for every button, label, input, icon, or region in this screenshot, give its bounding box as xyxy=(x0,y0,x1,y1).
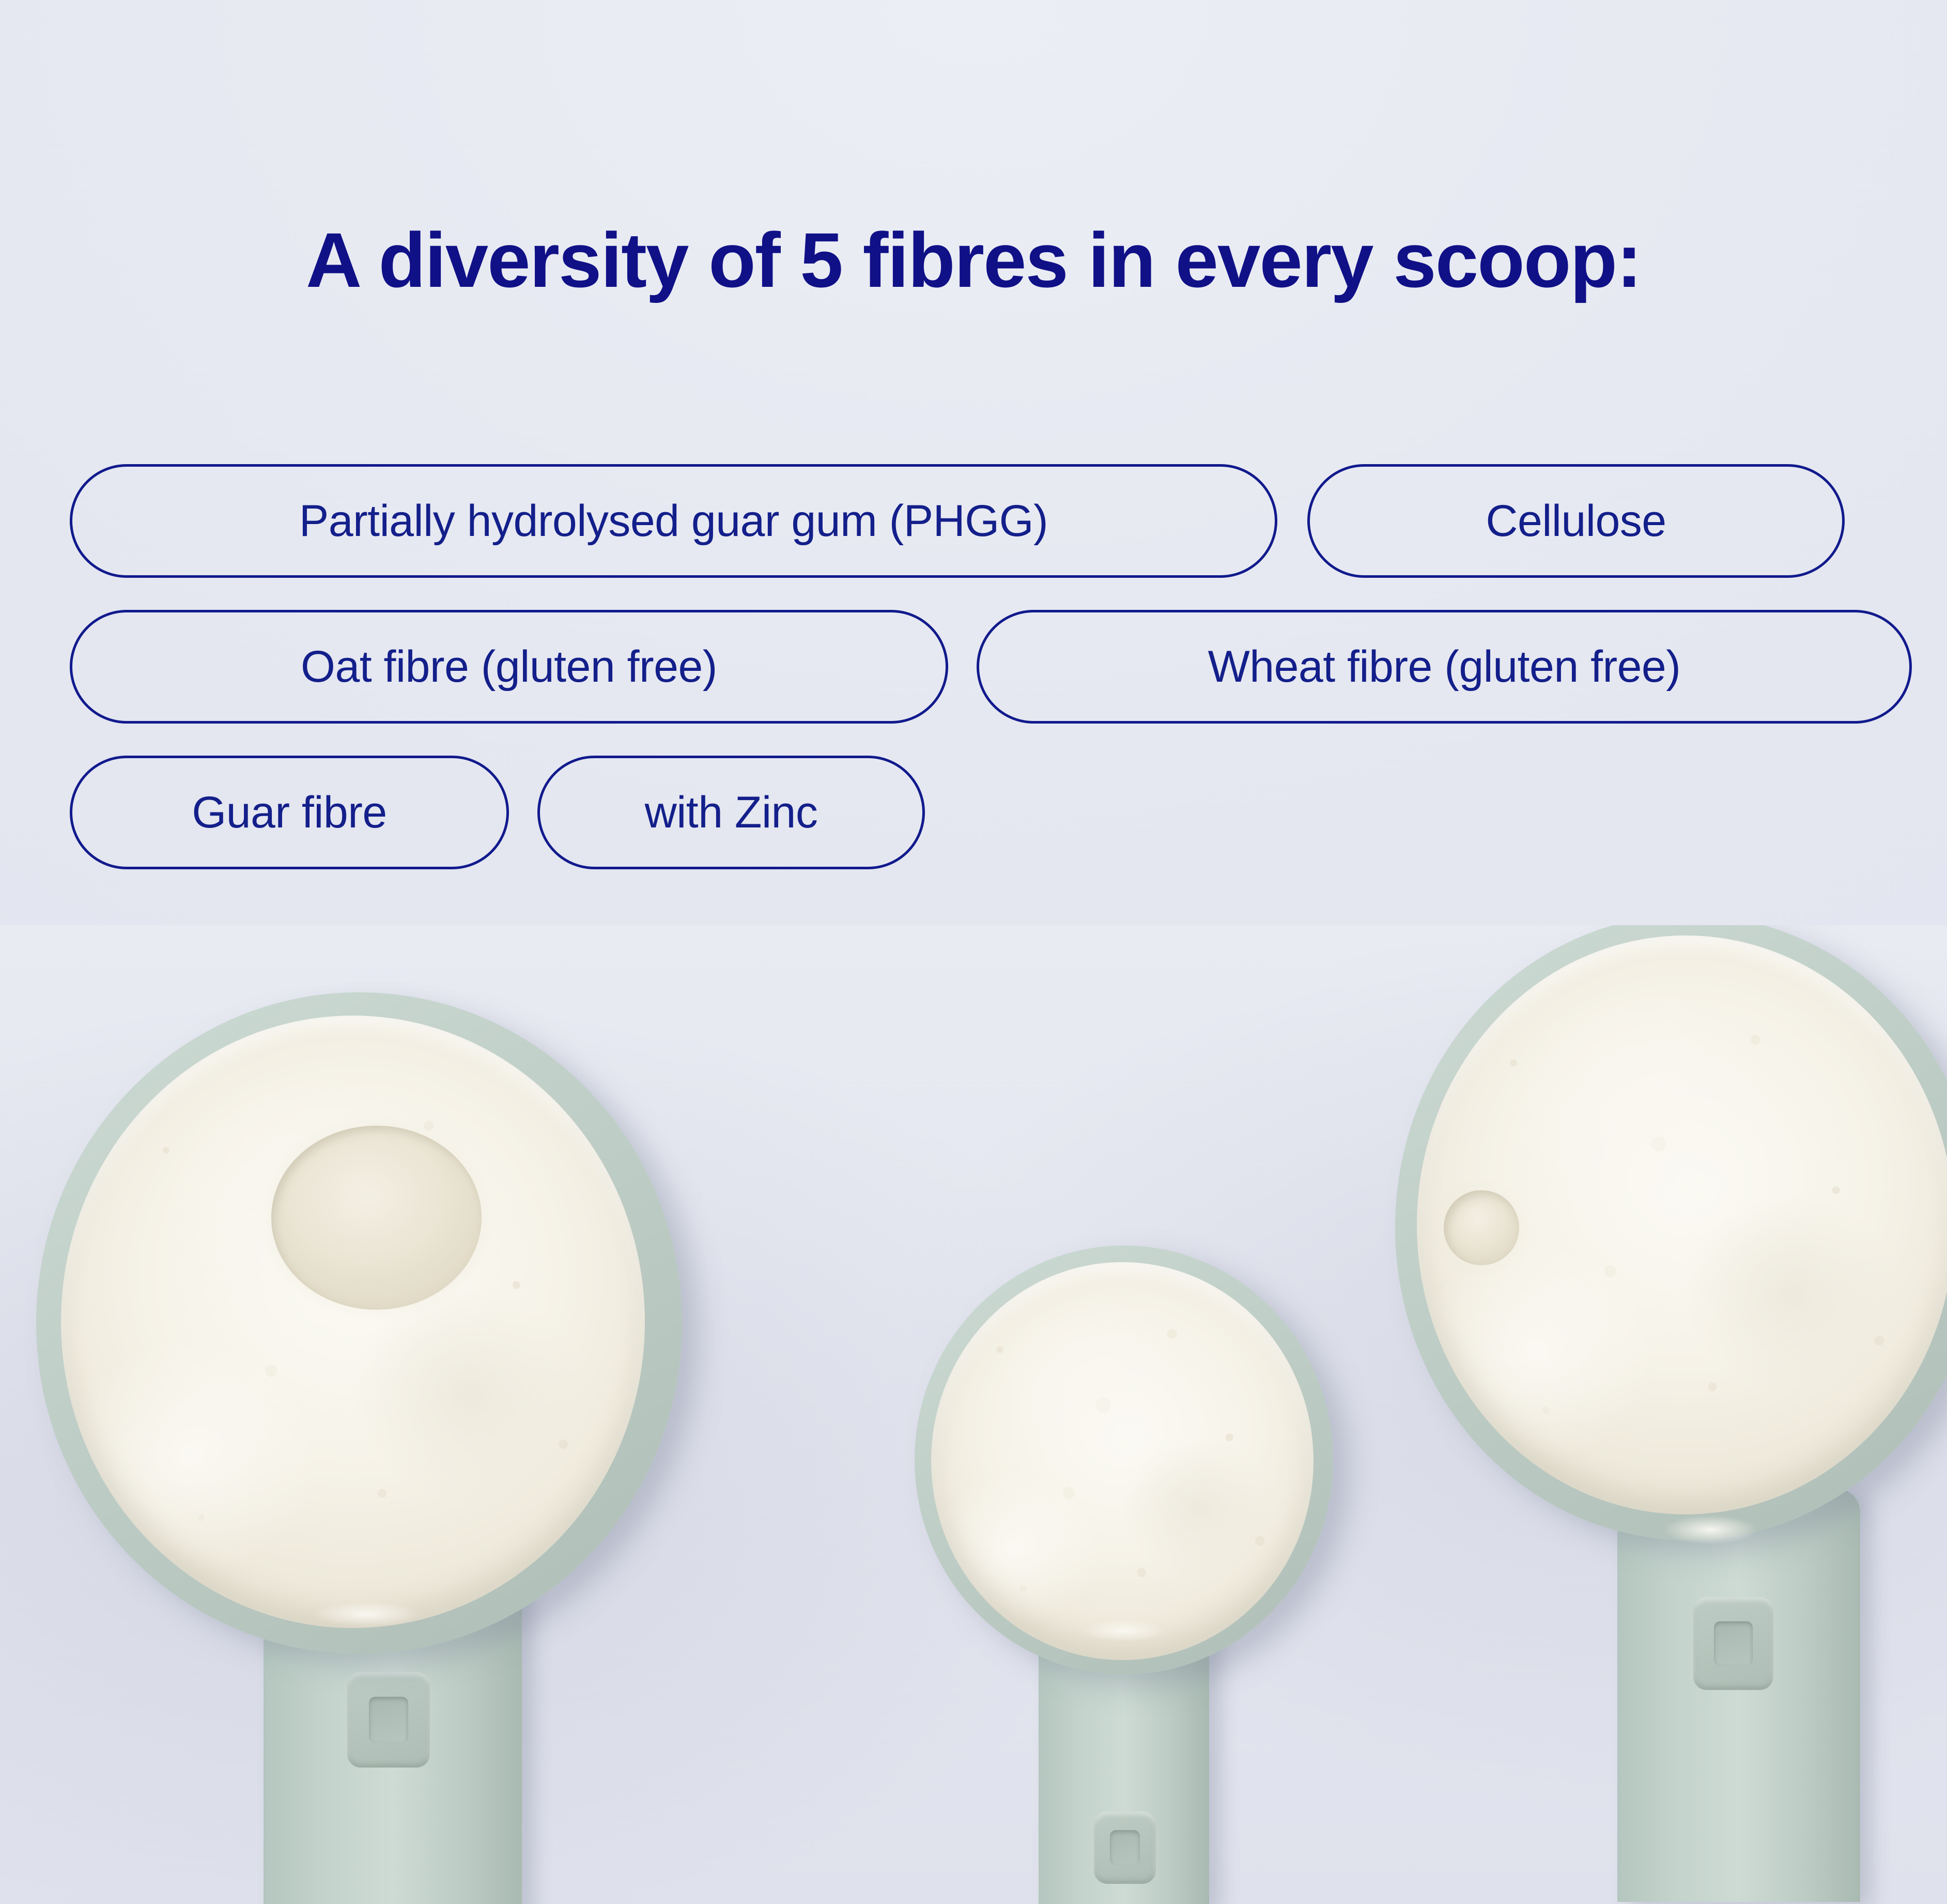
chip-with-zinc[interactable]: with Zinc xyxy=(537,756,925,869)
scoop-handle-tab xyxy=(1094,1811,1156,1884)
powder-dust xyxy=(1643,1509,1778,1550)
scoop-handle xyxy=(1617,1488,1860,1902)
chip-label: Oat fibre (gluten free) xyxy=(301,644,717,689)
chip-label: Guar fibre xyxy=(192,790,387,835)
scoop-handle-tab xyxy=(347,1672,430,1768)
large-scoop-right xyxy=(1374,925,1947,1902)
powder-crater xyxy=(1444,1190,1519,1266)
scoop-powder xyxy=(1417,935,1947,1514)
chip-phgg[interactable]: Partially hydrolysed guar gum (PHGG) xyxy=(70,464,1277,578)
powder-dust xyxy=(1064,1615,1183,1646)
chip-label: Wheat fibre (gluten free) xyxy=(1208,644,1681,689)
powder-texture xyxy=(931,1262,1314,1660)
chip-guar-fibre[interactable]: Guar fibre xyxy=(70,756,509,869)
chip-oat-fibre[interactable]: Oat fibre (gluten free) xyxy=(70,610,948,724)
fibre-chip-list: Partially hydrolysed guar gum (PHGG) Cel… xyxy=(70,464,1914,901)
powder-texture xyxy=(61,1016,645,1628)
chip-label: with Zinc xyxy=(645,790,818,835)
scoop-powder xyxy=(61,1016,645,1628)
scoop-powder xyxy=(931,1262,1314,1660)
chip-row-1: Partially hydrolysed guar gum (PHGG) Cel… xyxy=(70,464,1914,578)
scoop-photo xyxy=(0,925,1947,1904)
chip-cellulose[interactable]: Cellulose xyxy=(1307,464,1845,578)
page-title: A diversity of 5 fibres in every scoop: xyxy=(0,220,1947,301)
chip-wheat-fibre[interactable]: Wheat fibre (gluten free) xyxy=(977,610,1912,724)
fibre-diversity-poster: A diversity of 5 fibres in every scoop: … xyxy=(0,0,1947,1904)
powder-dust xyxy=(289,1596,444,1632)
chip-label: Partially hydrolysed guar gum (PHGG) xyxy=(299,499,1048,543)
chip-row-3: Guar fibre with Zinc xyxy=(70,756,1914,869)
scoop-handle-tab xyxy=(1693,1597,1773,1690)
powder-crater xyxy=(271,1126,482,1310)
chip-row-2: Oat fibre (gluten free) Wheat fibre (glu… xyxy=(70,610,1914,724)
large-scoop-left xyxy=(21,946,703,1904)
chip-label: Cellulose xyxy=(1486,499,1666,543)
small-scoop-centre xyxy=(909,1225,1338,1904)
